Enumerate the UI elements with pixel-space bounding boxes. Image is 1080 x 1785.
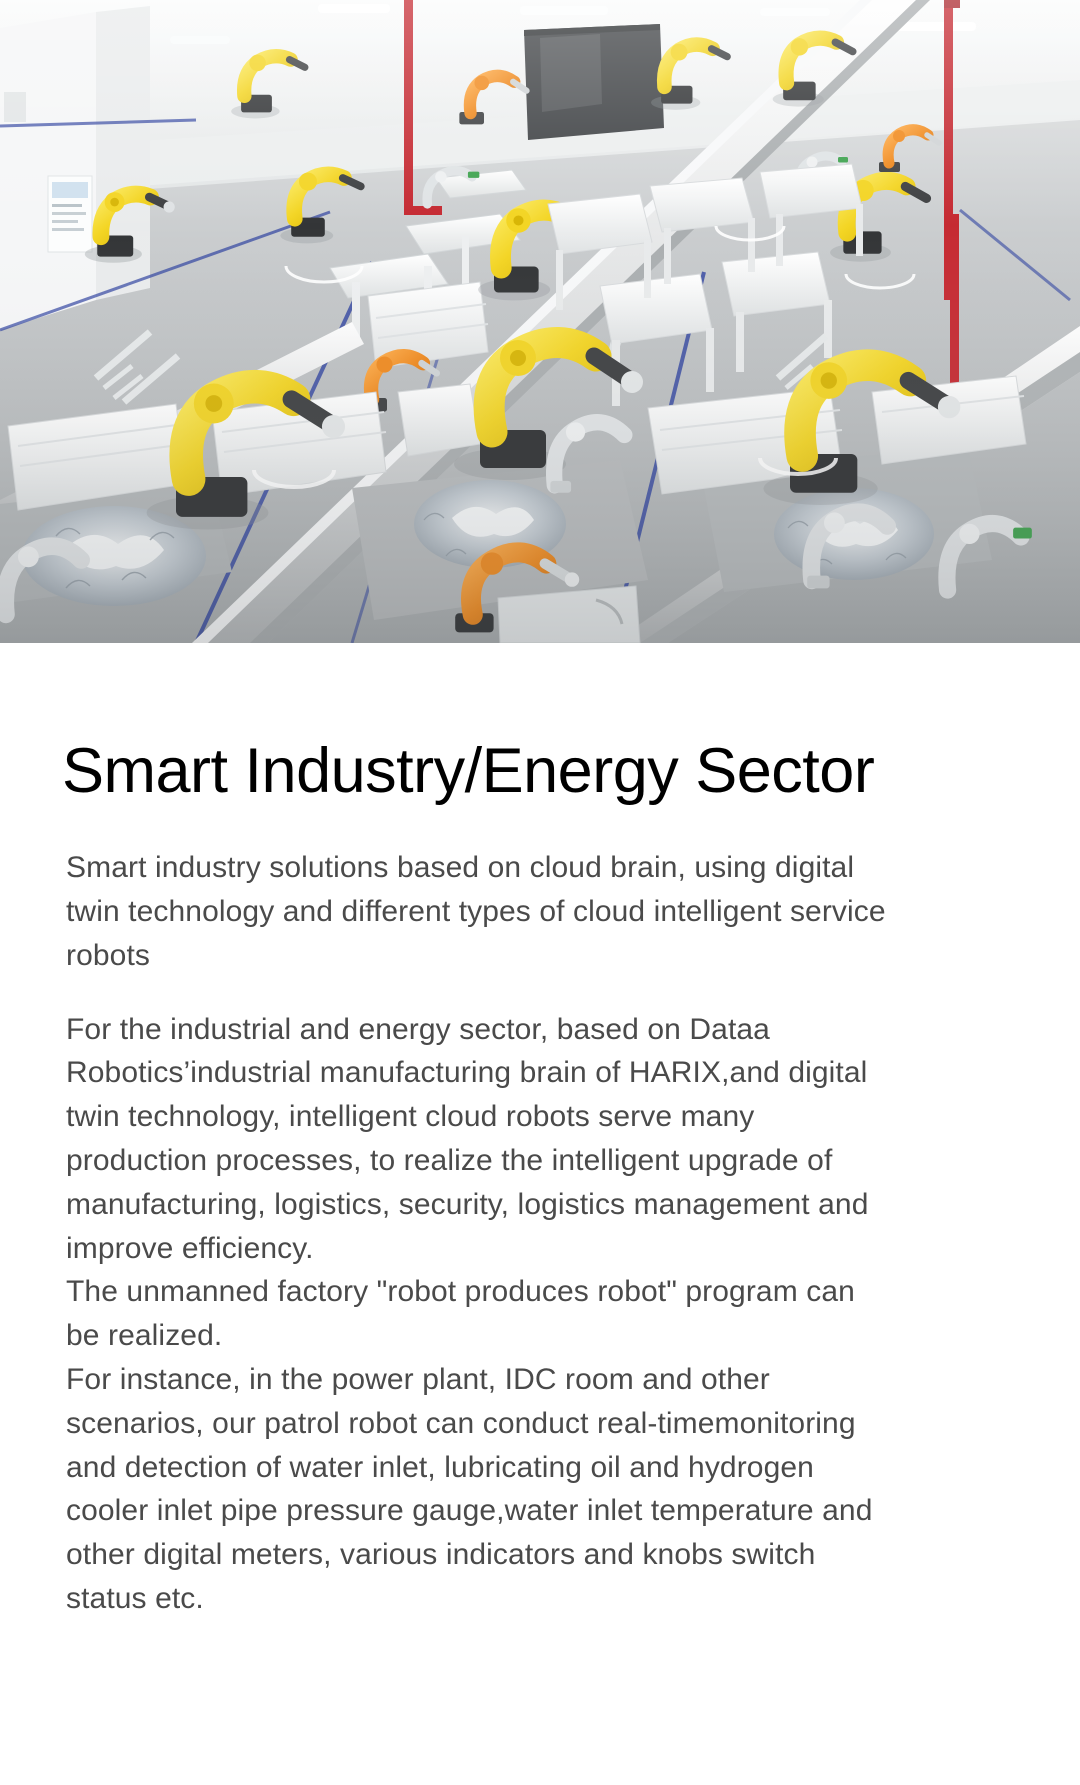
article-content: Smart Industry/Energy Sector Smart indus… xyxy=(0,738,1080,1781)
article-paragraph-1: For the industrial and energy sector, ba… xyxy=(66,1008,896,1271)
article-paragraph-2: The unmanned factory "robot produces rob… xyxy=(66,1270,896,1358)
hero-image xyxy=(0,0,1080,643)
article-body: Smart industry solutions based on cloud … xyxy=(66,846,896,1621)
article-lead-paragraph: Smart industry solutions based on cloud … xyxy=(66,846,896,977)
factory-scene-illustration xyxy=(0,0,1080,643)
bottom-spacer xyxy=(0,1621,1080,1781)
article-paragraph-3: For instance, in the power plant, IDC ro… xyxy=(66,1358,896,1621)
page-title: Smart Industry/Energy Sector xyxy=(62,738,1080,804)
